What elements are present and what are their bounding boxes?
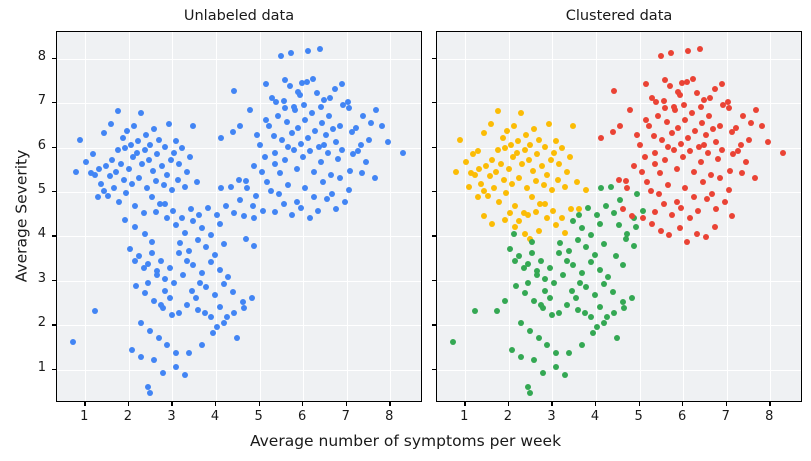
x-tick-label: 4 [583, 409, 607, 424]
data-point [176, 250, 182, 256]
data-point [92, 308, 98, 314]
data-point [727, 168, 733, 174]
data-point [655, 113, 661, 119]
data-point [629, 295, 635, 301]
data-point [168, 157, 174, 163]
data-point [190, 123, 196, 129]
data-point [170, 208, 176, 214]
x-tick-label: 6 [290, 409, 314, 424]
data-point [671, 104, 677, 110]
gridline-horizontal [437, 370, 801, 371]
data-point [674, 199, 680, 205]
data-point [553, 138, 559, 144]
data-point [531, 357, 537, 363]
data-point [646, 123, 652, 129]
data-point [610, 289, 616, 295]
y-tick-mark [432, 191, 436, 192]
data-point [577, 280, 583, 286]
data-point [652, 150, 658, 156]
data-point [740, 113, 746, 119]
data-point [162, 201, 168, 207]
data-point [202, 310, 208, 316]
data-point [556, 250, 562, 256]
data-point [139, 161, 145, 167]
data-point [244, 185, 250, 191]
data-point [240, 299, 246, 305]
data-point [302, 185, 308, 191]
data-point [121, 177, 127, 183]
data-point [698, 104, 704, 110]
data-point [156, 137, 162, 143]
data-point [519, 161, 525, 167]
data-point [564, 302, 570, 308]
data-point [494, 308, 500, 314]
data-point [305, 135, 311, 141]
data-point [161, 182, 167, 188]
data-point [208, 314, 214, 320]
data-point [546, 121, 552, 127]
x-tick-label: 3 [159, 409, 183, 424]
x-tick-label: 5 [627, 409, 651, 424]
y-tick-mark [52, 324, 56, 325]
data-point [556, 161, 562, 167]
gridline-horizontal [57, 370, 421, 371]
data-point [144, 185, 150, 191]
data-point [243, 236, 249, 242]
data-point [349, 129, 355, 135]
data-point [203, 244, 209, 250]
data-point [241, 305, 247, 311]
data-point [307, 148, 313, 154]
data-point [156, 335, 162, 341]
data-point [285, 182, 291, 188]
data-point [583, 284, 589, 290]
data-point [648, 188, 654, 194]
data-point [164, 172, 170, 178]
data-point [669, 212, 675, 218]
gridline-horizontal [57, 148, 421, 149]
data-point [652, 161, 658, 167]
data-point [333, 206, 339, 212]
data-point [251, 215, 257, 221]
data-point [597, 221, 603, 227]
data-point [230, 289, 236, 295]
data-point [501, 177, 507, 183]
x-tick-mark [259, 402, 260, 406]
data-point [346, 187, 352, 193]
data-point [184, 302, 190, 308]
data-point [115, 147, 121, 153]
data-point [214, 212, 220, 218]
data-point [311, 169, 317, 175]
data-point [314, 90, 320, 96]
data-point [588, 314, 594, 320]
data-point [234, 335, 240, 341]
data-point [108, 121, 114, 127]
x-tick-mark [215, 402, 216, 406]
data-point [120, 135, 126, 141]
x-tick-mark [171, 402, 172, 406]
data-point [570, 218, 576, 224]
data-point [662, 157, 668, 163]
data-point [318, 159, 324, 165]
data-point [162, 144, 168, 150]
data-point [759, 123, 765, 129]
data-point [665, 182, 671, 188]
data-point [253, 193, 259, 199]
data-point [675, 89, 681, 95]
data-point [73, 169, 79, 175]
data-point [135, 138, 141, 144]
data-point [311, 194, 317, 200]
data-point [623, 178, 629, 184]
data-point [536, 335, 542, 341]
data-point [522, 147, 528, 153]
data-point [162, 288, 168, 294]
x-tick-mark [726, 402, 727, 406]
data-point [500, 135, 506, 141]
data-point [301, 102, 307, 108]
data-point [221, 281, 227, 287]
data-point [717, 123, 723, 129]
gridline-horizontal [57, 59, 421, 60]
data-point [337, 175, 343, 181]
data-point [533, 209, 539, 215]
data-point [360, 113, 366, 119]
data-point [96, 166, 102, 172]
data-point [175, 177, 181, 183]
data-point [567, 154, 573, 160]
x-tick-label: 8 [377, 409, 401, 424]
y-tick-mark [432, 369, 436, 370]
data-point [504, 128, 510, 134]
data-point [694, 90, 700, 96]
gridline-horizontal [57, 192, 421, 193]
data-point [481, 130, 487, 136]
data-point [713, 206, 719, 212]
data-point [598, 135, 604, 141]
data-point [368, 120, 374, 126]
data-point [218, 185, 224, 191]
data-point [231, 88, 237, 94]
data-point [639, 169, 645, 175]
data-point [190, 218, 196, 224]
data-point [195, 307, 201, 313]
data-point [717, 175, 723, 181]
x-tick-mark [346, 402, 347, 406]
data-point [475, 148, 481, 154]
data-point [90, 151, 96, 157]
data-point [516, 175, 522, 181]
data-point [662, 77, 668, 83]
data-point [631, 163, 637, 169]
data-point [268, 188, 274, 194]
data-point [223, 203, 229, 209]
data-point [675, 125, 681, 131]
data-point [158, 258, 164, 264]
data-point [661, 201, 667, 207]
data-point [179, 215, 185, 221]
data-point [691, 194, 697, 200]
data-point [212, 252, 218, 258]
data-point [281, 201, 287, 207]
data-point [373, 107, 379, 113]
data-point [529, 250, 535, 256]
data-point [295, 125, 301, 131]
data-point [550, 208, 556, 214]
x-tick-mark [769, 402, 770, 406]
data-point [92, 172, 98, 178]
data-point [725, 99, 731, 105]
data-point [491, 185, 497, 191]
data-point [743, 159, 749, 165]
data-point [287, 83, 293, 89]
data-point [205, 205, 211, 211]
data-point [726, 187, 732, 193]
data-point [729, 129, 735, 135]
data-point [678, 205, 684, 211]
data-point [652, 209, 658, 215]
gridline-vertical [683, 32, 684, 401]
data-point [585, 205, 591, 211]
data-point [516, 218, 522, 224]
data-point [453, 169, 459, 175]
data-point [147, 328, 153, 334]
data-point [530, 168, 536, 174]
data-point [485, 193, 491, 199]
data-point [582, 310, 588, 316]
data-point [708, 172, 714, 178]
data-point [259, 169, 265, 175]
x-axis-label: Average number of symptoms per week [0, 432, 811, 450]
gridline-horizontal [437, 103, 801, 104]
data-point [687, 148, 693, 154]
gridline-vertical [727, 32, 728, 401]
data-point [656, 191, 662, 197]
data-point [182, 372, 188, 378]
data-point [489, 221, 495, 227]
data-point [576, 206, 582, 212]
data-point [562, 184, 568, 190]
data-point [330, 126, 336, 132]
data-point [146, 157, 152, 163]
data-point [553, 222, 559, 228]
data-point [260, 208, 266, 214]
panel-title-clustered: Clustered data [436, 8, 802, 24]
x-tick-label: 2 [116, 409, 140, 424]
data-point [664, 119, 670, 125]
data-point [640, 215, 646, 221]
data-point [251, 243, 257, 249]
gridline-vertical [172, 32, 173, 401]
data-point [726, 105, 732, 111]
data-point [529, 194, 535, 200]
x-tick-label: 8 [757, 409, 781, 424]
y-tick-mark [52, 369, 56, 370]
data-point [164, 342, 170, 348]
data-point [506, 166, 512, 172]
data-point [701, 97, 707, 103]
data-point [160, 370, 166, 376]
data-point [180, 272, 186, 278]
data-point [559, 145, 565, 151]
data-point [722, 199, 728, 205]
data-point [169, 312, 175, 318]
data-point [279, 137, 285, 143]
data-point [333, 139, 339, 145]
data-point [173, 350, 179, 356]
data-point [601, 241, 607, 247]
data-point [203, 284, 209, 290]
data-point [752, 175, 758, 181]
data-point [547, 295, 553, 301]
x-tick-mark [508, 402, 509, 406]
data-point [643, 81, 649, 87]
data-point [553, 350, 559, 356]
y-tick-mark [432, 58, 436, 59]
data-point [325, 150, 331, 156]
data-point [488, 121, 494, 127]
data-point [145, 384, 151, 390]
data-point [569, 288, 575, 294]
data-point [689, 110, 695, 116]
data-point [592, 252, 598, 258]
data-point [631, 243, 637, 249]
data-point [208, 259, 214, 265]
data-point [705, 150, 711, 156]
data-point [534, 151, 540, 157]
data-point [715, 156, 721, 162]
scatter-plot-unlabeled[interactable] [56, 31, 422, 402]
gridline-vertical [347, 32, 348, 401]
x-tick-label: 1 [452, 409, 476, 424]
data-point [489, 157, 495, 163]
data-point [294, 199, 300, 205]
data-point [199, 225, 205, 231]
gridline-horizontal [437, 148, 801, 149]
x-tick-label: 7 [334, 409, 358, 424]
data-point [167, 295, 173, 301]
data-point [132, 203, 138, 209]
data-point [556, 310, 562, 316]
data-point [129, 347, 135, 353]
data-point [236, 177, 242, 183]
data-point [153, 178, 159, 184]
gridline-horizontal [437, 236, 801, 237]
data-point [594, 212, 600, 218]
data-point [151, 298, 157, 304]
gridline-vertical [129, 32, 130, 401]
data-point [524, 185, 530, 191]
data-point [154, 151, 160, 157]
data-point [217, 221, 223, 227]
y-tick-mark [52, 191, 56, 192]
data-point [518, 354, 524, 360]
data-point [195, 237, 201, 243]
data-point [620, 299, 626, 305]
data-point [149, 239, 155, 245]
data-point [217, 267, 223, 273]
data-point [450, 339, 456, 345]
data-point [312, 128, 318, 134]
data-point [159, 163, 165, 169]
scatter-plot-clustered[interactable] [436, 31, 802, 402]
data-point [677, 225, 683, 231]
data-point [521, 265, 527, 271]
data-point [272, 209, 278, 215]
data-point [527, 328, 533, 334]
data-point [667, 83, 673, 89]
data-point [753, 107, 759, 113]
figure-canvas: Unlabeled data Clustered data 1234567812… [0, 0, 811, 461]
data-point [320, 179, 326, 185]
data-point [372, 175, 378, 181]
data-point [642, 154, 648, 160]
data-point [250, 203, 256, 209]
data-point [508, 142, 514, 148]
data-point [332, 86, 338, 92]
data-point [613, 253, 619, 259]
data-point [512, 258, 518, 264]
data-point [262, 154, 268, 160]
data-point [153, 209, 159, 215]
data-point [699, 120, 705, 126]
data-point [282, 105, 288, 111]
data-point [476, 166, 482, 172]
data-point [95, 194, 101, 200]
data-point [594, 324, 600, 330]
data-point [217, 304, 223, 310]
data-point [98, 181, 104, 187]
data-point [355, 148, 361, 154]
data-point [194, 179, 200, 185]
data-point [614, 335, 620, 341]
gridline-vertical [465, 32, 466, 401]
data-point [551, 280, 557, 286]
data-point [549, 312, 555, 318]
data-point [575, 237, 581, 243]
data-point [597, 304, 603, 310]
data-point [115, 108, 121, 114]
y-tick-mark [52, 147, 56, 148]
data-point [704, 196, 710, 202]
x-tick-mark [128, 402, 129, 406]
data-point [707, 95, 713, 101]
data-point [326, 113, 332, 119]
data-point [176, 310, 182, 316]
data-point [142, 290, 148, 296]
data-point [666, 232, 672, 238]
data-point [323, 132, 329, 138]
data-point [700, 179, 706, 185]
data-point [105, 193, 111, 199]
data-point [679, 80, 685, 86]
data-point [136, 175, 142, 181]
data-point [706, 113, 712, 119]
x-tick-mark [84, 402, 85, 406]
data-point [197, 280, 203, 286]
data-point [193, 295, 199, 301]
data-point [739, 170, 745, 176]
data-point [712, 224, 718, 230]
data-point [231, 210, 237, 216]
data-point [604, 314, 610, 320]
data-point [540, 370, 546, 376]
data-point [653, 99, 659, 105]
y-tick-mark [52, 280, 56, 281]
data-point [512, 203, 518, 209]
data-point [502, 217, 508, 223]
